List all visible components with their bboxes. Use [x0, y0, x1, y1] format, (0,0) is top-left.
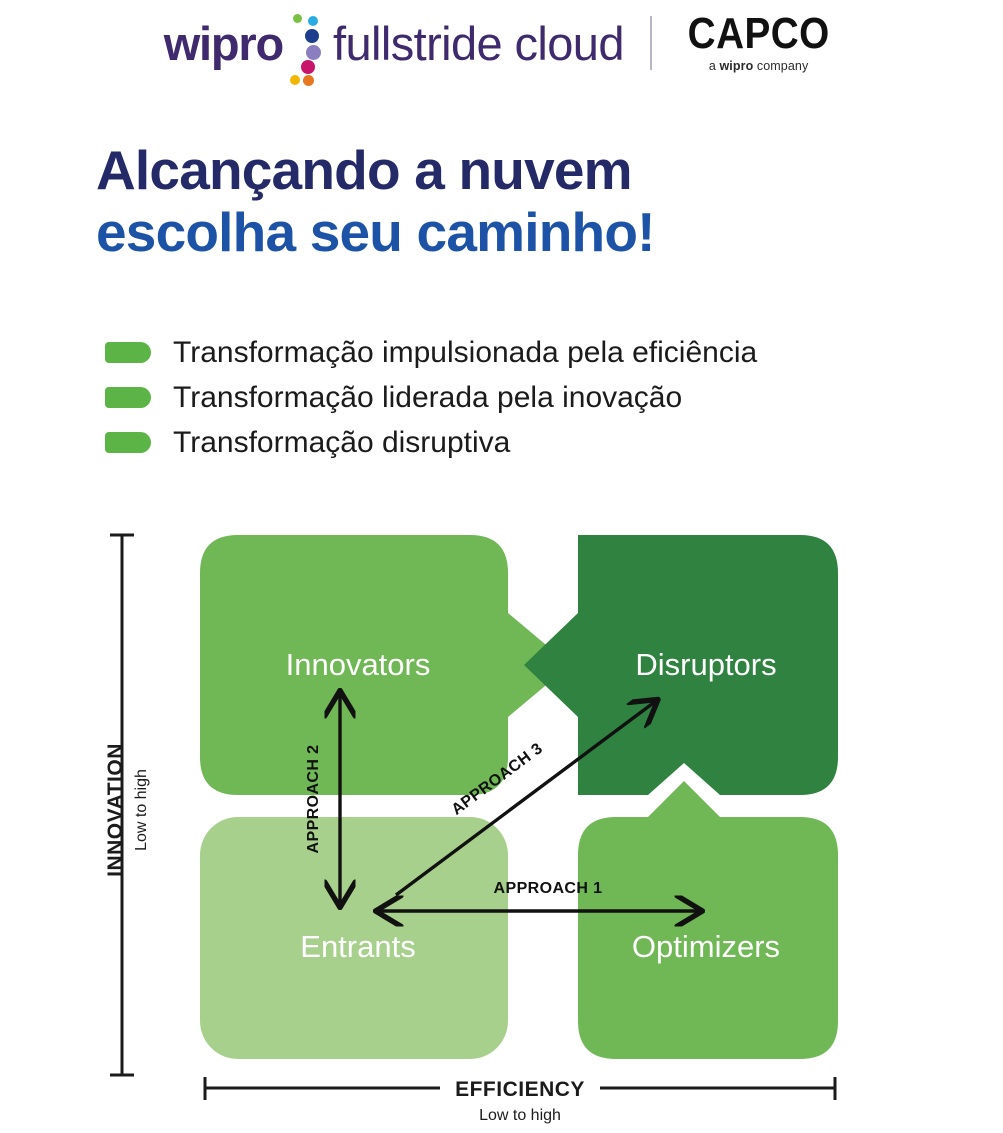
legend-item-label: Transformação impulsionada pela eficiênc… [173, 336, 757, 370]
capco-tagline-prefix: a [709, 59, 720, 73]
page-title-line-2: escolha seu caminho! [96, 204, 956, 262]
legend-item-label: Transformação liderada pela inovação [173, 381, 682, 415]
quadrant-label-optimizers: Optimizers [632, 929, 780, 964]
page-title-line-1: Alcançando a nuvem [96, 142, 956, 200]
quadrant-disruptors[interactable]: Disruptors [524, 535, 838, 795]
capco-tagline-brand: wipro [719, 59, 753, 73]
legend-item: Transformação impulsionada pela eficiênc… [105, 330, 985, 375]
quadrant-entrants[interactable]: Entrants [200, 817, 508, 1059]
quadrant-label-entrants: Entrants [300, 929, 415, 964]
capco-tagline-suffix: company [753, 59, 808, 73]
fullstride-cloud-wordmark: fullstride cloud [333, 20, 624, 67]
brand-header: wipro fullstride cloud CAPCO a wipro com… [0, 6, 1003, 80]
wipro-dots-icon [289, 12, 325, 74]
legend-item: Transformação liderada pela inovação [105, 375, 985, 420]
x-axis-label: EFFICIENCY [455, 1078, 585, 1101]
wipro-fullstride-logo: wipro fullstride cloud [164, 12, 624, 74]
approach-2-label: APPROACH 2 [305, 745, 322, 854]
y-axis: INNOVATION Low to high [104, 535, 150, 1075]
capco-wordmark: CAPCO [688, 13, 830, 55]
innovation-efficiency-matrix: INNOVATION Low to high Innovators Disrup… [0, 515, 1003, 1133]
brand-divider [650, 16, 652, 70]
x-axis: EFFICIENCY Low to high [205, 1077, 835, 1124]
legend-swatch-icon [105, 342, 151, 363]
legend-item: Transformação disruptiva [105, 420, 985, 465]
page-title: Alcançando a nuvem escolha seu caminho! [96, 142, 956, 262]
quadrant-label-innovators: Innovators [286, 647, 431, 682]
quadrant-label-disruptors: Disruptors [635, 647, 776, 682]
approach-1-label: APPROACH 1 [494, 880, 603, 897]
legend-item-label: Transformação disruptiva [173, 426, 510, 460]
poster-root: wipro fullstride cloud CAPCO a wipro com… [0, 0, 1003, 1133]
wipro-wordmark: wipro [164, 20, 283, 67]
legend-swatch-icon [105, 432, 151, 453]
y-axis-label: INNOVATION [104, 743, 127, 877]
capco-tagline: a wipro company [709, 59, 808, 73]
y-axis-sublabel: Low to high [133, 769, 150, 851]
quadrant-optimizers[interactable]: Optimizers [578, 781, 838, 1059]
legend: Transformação impulsionada pela eficiênc… [105, 330, 985, 465]
legend-swatch-icon [105, 387, 151, 408]
x-axis-sublabel: Low to high [479, 1107, 561, 1124]
capco-logo: CAPCO a wipro company [678, 13, 839, 73]
